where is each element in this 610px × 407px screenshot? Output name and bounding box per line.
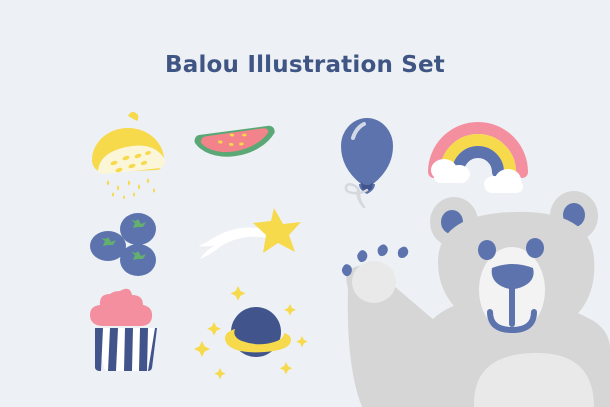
watermelon-icon bbox=[192, 118, 284, 184]
cupcake-icon bbox=[86, 286, 166, 372]
blueberry-top-right bbox=[120, 213, 156, 245]
bear-icon bbox=[326, 192, 610, 407]
page-title: Balou Illustration Set bbox=[0, 52, 610, 78]
lemon-icon bbox=[78, 108, 188, 198]
bear-eye-right bbox=[526, 238, 544, 258]
illustration-shooting-star bbox=[182, 206, 302, 272]
illustration-rainbow bbox=[428, 108, 532, 198]
blueberry-bottom-right bbox=[120, 244, 156, 276]
lemon-juice-drops bbox=[107, 178, 155, 199]
rainbow-icon bbox=[428, 108, 532, 198]
illustration-lemon bbox=[78, 108, 188, 198]
illustration-blueberries bbox=[86, 208, 172, 288]
illustration-bear bbox=[326, 192, 610, 407]
illustration-poster: Balou Illustration Set bbox=[0, 0, 610, 407]
bear-eye-left bbox=[478, 240, 496, 260]
planet-icon bbox=[198, 282, 318, 372]
illustration-watermelon bbox=[192, 118, 284, 184]
illustration-cupcake bbox=[86, 286, 166, 372]
illustration-planet bbox=[198, 282, 318, 372]
blueberries-icon bbox=[86, 208, 172, 288]
cloud-right bbox=[484, 169, 523, 193]
shooting-star-icon bbox=[182, 206, 302, 272]
